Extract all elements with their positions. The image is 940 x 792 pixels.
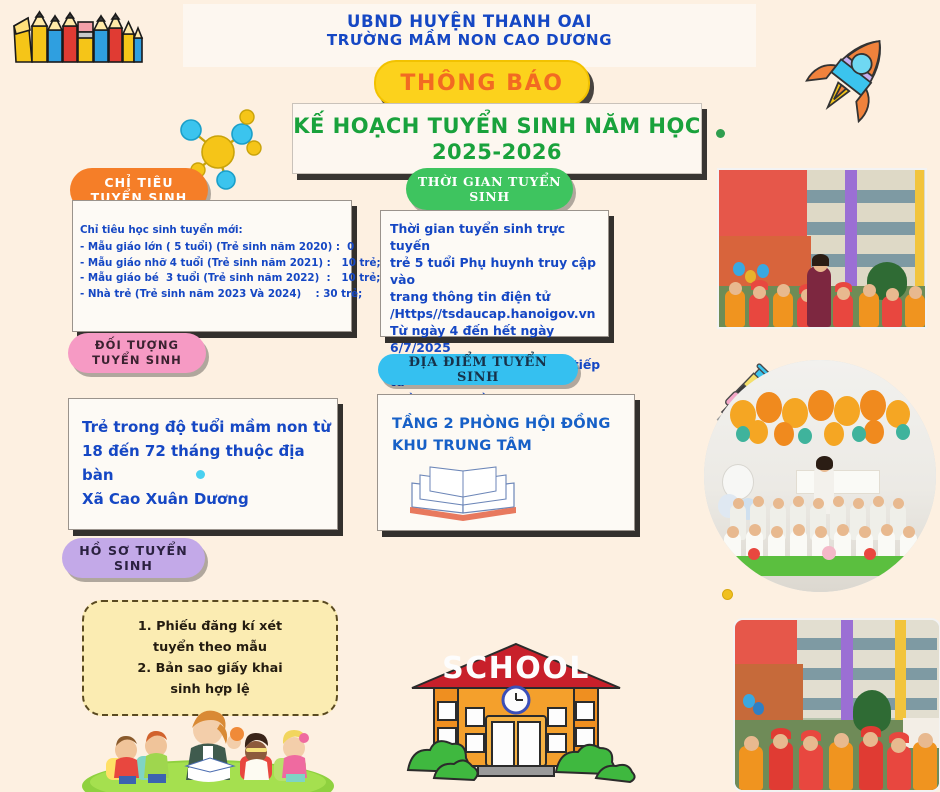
document-item: 2. Bản sao giấy khai [84,658,336,679]
photo-classroom-group [704,360,936,592]
main-title-line-1: KẾ HOẠCH TUYỂN SINH NĂM HỌC [293,113,701,139]
time-line: trẻ 5 tuổi Phụ huynh truy cập vào [381,254,608,288]
notice-badge-label: THÔNG BÁO [400,71,563,96]
document-item: tuyển theo mẫu [84,637,336,658]
quota-heading: Chỉ tiêu học sinh tuyển mới: [73,201,351,240]
time-line: Từ ngày 4 đến hết ngày 6/7/2025 [381,322,608,356]
header-band: UBND HUYỆN THANH OAI TRƯỜNG MẦM NON CAO … [183,4,756,67]
colored-pencils-icon [6,4,144,66]
section-badge-place: ĐỊA ĐIỂM TUYỂN SINH [378,354,578,385]
time-line: Thời gian tuyển sinh trực tuyến [381,220,608,254]
quota-line: - Nhà trẻ (Trẻ sinh năm 2023 Và 2024) : … [73,287,351,303]
organization-line-2: TRƯỜNG MẦM NON CAO DƯƠNG [183,31,756,49]
school-building-icon: SCHOOL [398,630,634,785]
decor-dot-green [716,129,725,138]
documents-card: 1. Phiếu đăng kí xét tuyển theo mẫu 2. B… [82,600,338,716]
quota-line: - Mẫu giáo bé 3 tuổi (Trẻ sinh năm 2022)… [73,271,351,287]
section-badge-place-label: ĐỊA ĐIỂM TUYỂN SINH [378,355,578,385]
rocket-icon [798,28,908,123]
target-card: Trẻ trong độ tuổi mầm non từ 18 đến 72 t… [68,398,338,530]
poster-canvas: UBND HUYỆN THANH OAI TRƯỜNG MẦM NON CAO … [0,0,940,788]
section-badge-target: ĐỐI TƯỢNG TUYỂN SINH [68,333,206,373]
section-badge-time: THỜI GIAN TUYỂN SINH [406,168,573,210]
document-item: 1. Phiếu đăng kí xét [84,616,336,637]
time-card: Thời gian tuyển sinh trực tuyến trẻ 5 tu… [380,210,609,337]
place-line: KHU TRUNG TÂM [378,435,634,457]
section-badge-documents-label: HỒ SƠ TUYỂN SINH [62,543,205,573]
section-badge-documents: HỒ SƠ TUYỂN SINH [62,538,205,578]
time-line: trang thông tin điện tử [381,288,608,305]
place-line: TẦNG 2 PHÒNG HỘI ĐỒNG [378,413,634,435]
quota-card: Chỉ tiêu học sinh tuyển mới: - Mẫu giáo … [72,200,352,332]
teacher-reading-to-children-icon [88,700,328,788]
time-line: /Https//tsdaucap.hanoigov.vn [381,305,608,322]
quota-line: - Mẫu giáo lớn ( 5 tuổi) (Trẻ sinh năm 2… [73,240,351,256]
open-book-icon [406,463,521,521]
document-item: sinh hợp lệ [84,679,336,700]
notice-badge: THÔNG BÁO [374,60,590,106]
target-line: Xã Cao Xuân Dương [69,487,337,511]
photo-children-costumes [733,618,940,792]
organization-line-1: UBND HUYỆN THANH OAI [183,4,756,31]
place-card: TẦNG 2 PHÒNG HỘI ĐỒNG KHU TRUNG TÂM [377,394,635,531]
main-title-card: KẾ HOẠCH TUYỂN SINH NĂM HỌC 2025-2026 [292,103,702,174]
section-badge-time-label: THỜI GIAN TUYỂN SINH [406,174,573,204]
target-line: Trẻ trong độ tuổi mầm non từ [69,415,337,439]
target-line: 18 đến 72 tháng thuộc địa bàn [69,439,337,487]
school-sign-label: SCHOOL [442,651,590,686]
photo-school-yard [717,168,927,329]
decor-dot-cyan [196,470,205,479]
quota-line: - Mẫu giáo nhỡ 4 tuổi (Trẻ sinh năm 2021… [73,256,351,272]
section-badge-target-label: ĐỐI TƯỢNG TUYỂN SINH [68,338,206,368]
main-title-line-2: 2025-2026 [432,139,562,165]
